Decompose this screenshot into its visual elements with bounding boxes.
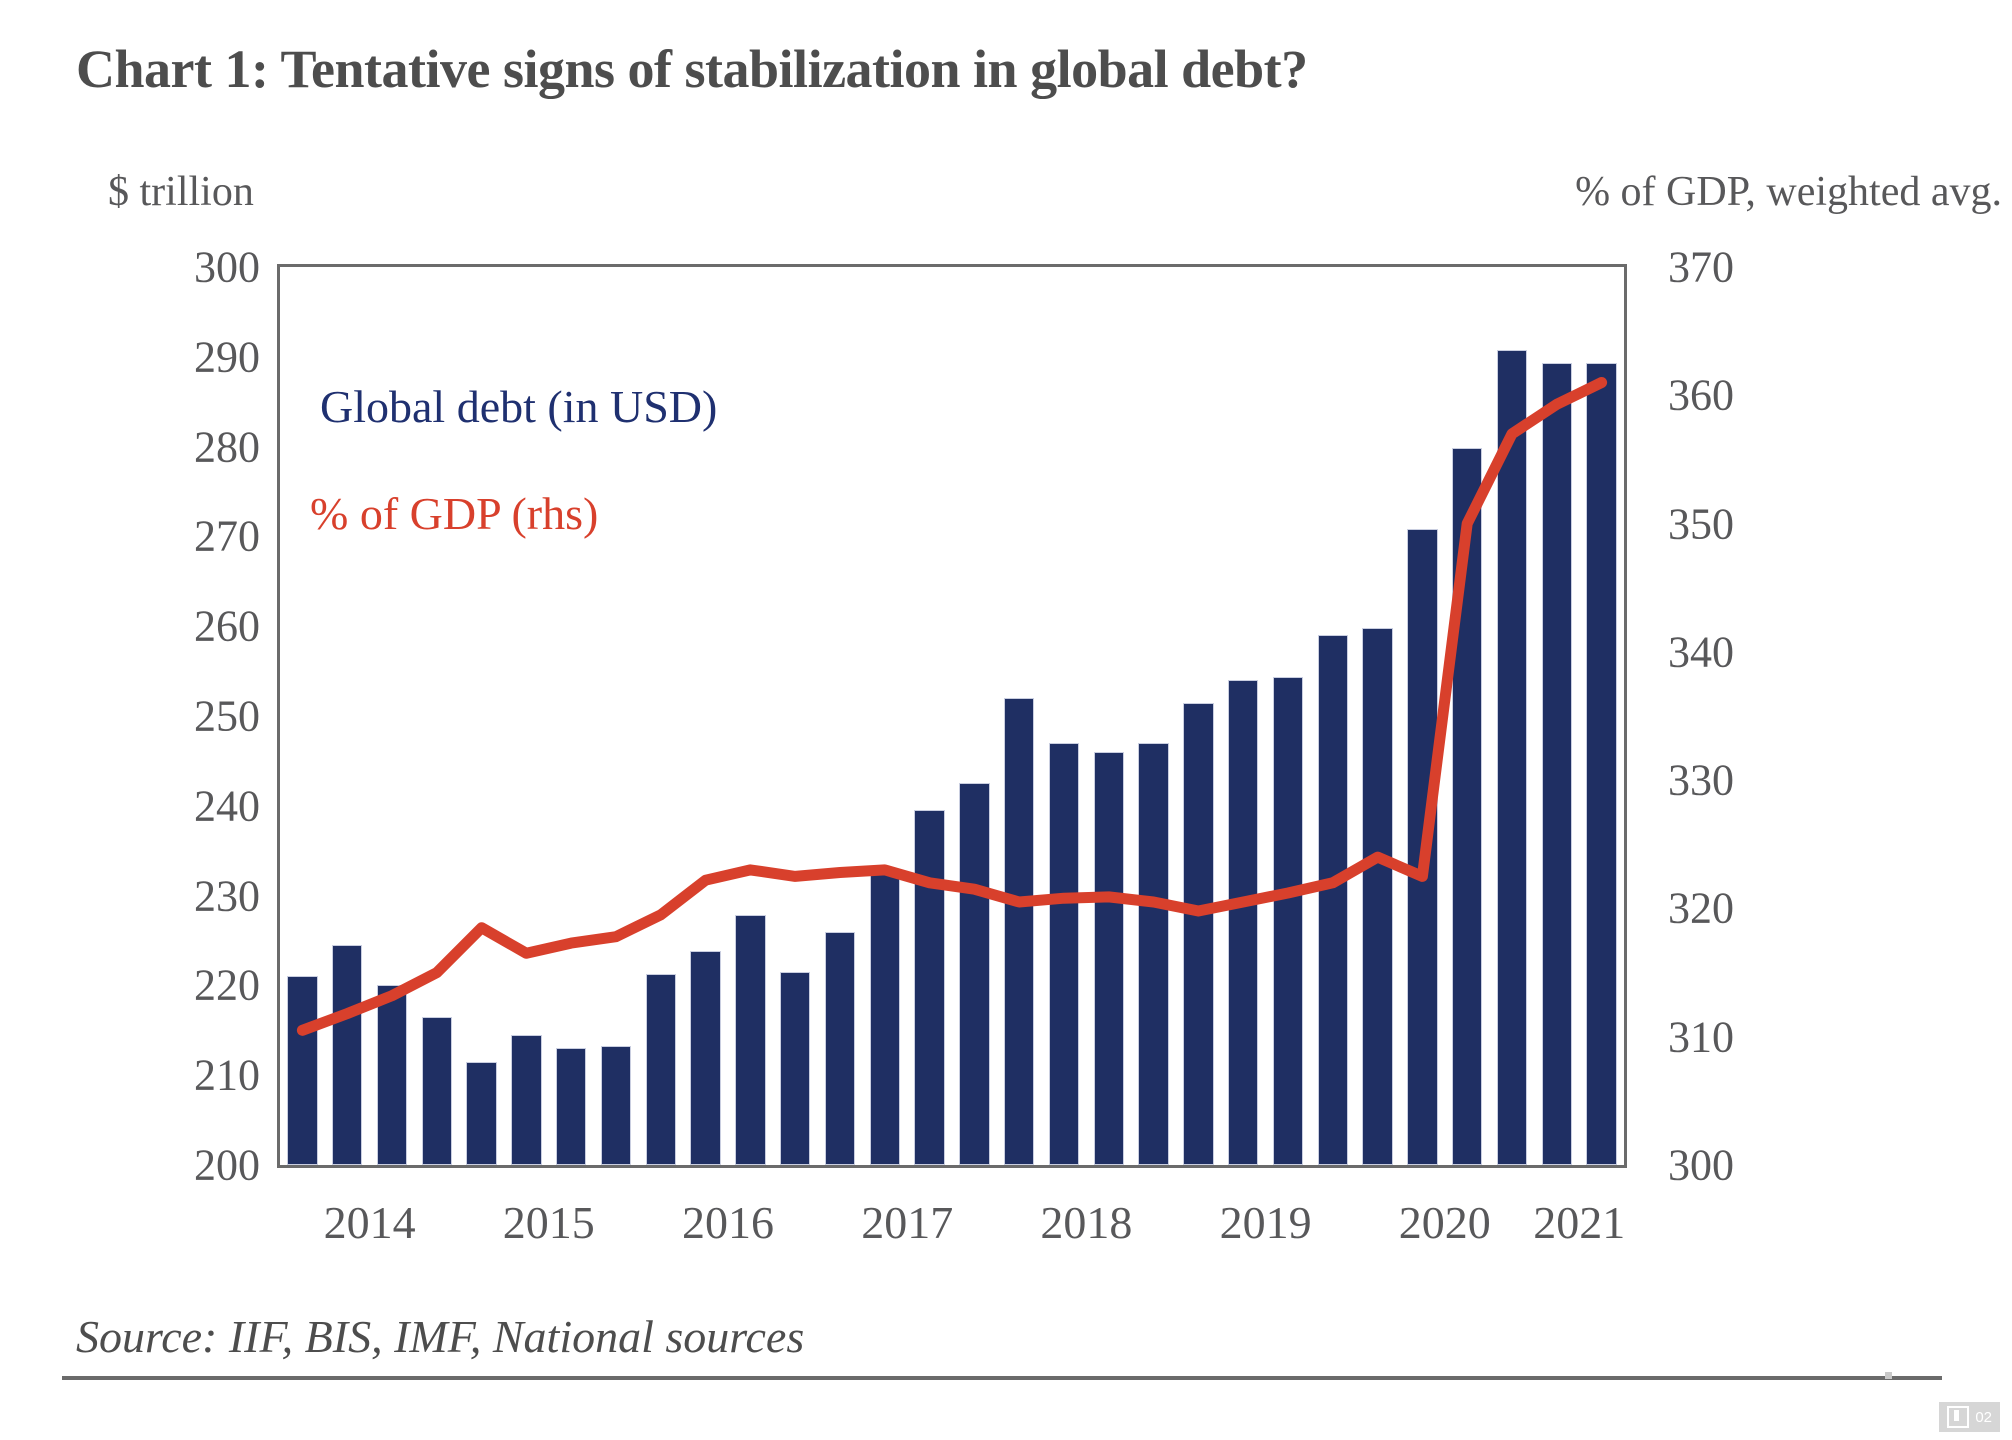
ytick-left-260: 260 (194, 601, 260, 652)
source-note: Source: IIF, BIS, IMF, National sources (76, 1310, 804, 1363)
ytick-right-360: 360 (1668, 370, 1734, 421)
xtick-2019: 2019 (1220, 1196, 1312, 1249)
chart-page: Chart 1: Tentative signs of stabilizatio… (0, 0, 2012, 1440)
ytick-right-350: 350 (1668, 498, 1734, 549)
watermark-label: 02 (1975, 1409, 1992, 1426)
ytick-right-330: 330 (1668, 755, 1734, 806)
xtick-2018: 2018 (1040, 1196, 1132, 1249)
legend-item-global-debt: Global debt (in USD) (320, 380, 717, 433)
ytick-left-300: 300 (194, 242, 260, 293)
ytick-right-340: 340 (1668, 626, 1734, 677)
ytick-left-270: 270 (194, 511, 260, 562)
right-axis-caption: % of GDP, weighted avg. (1575, 168, 2002, 216)
ytick-left-250: 250 (194, 691, 260, 742)
corner-dot (1885, 1372, 1892, 1379)
ytick-left-290: 290 (194, 331, 260, 382)
watermark-icon (1947, 1406, 1969, 1428)
xtick-2015: 2015 (503, 1196, 595, 1249)
watermark-badge: 02 (1939, 1402, 2000, 1432)
ytick-right-320: 320 (1668, 883, 1734, 934)
ytick-left-280: 280 (194, 421, 260, 472)
legend-item-pct-gdp: % of GDP (rhs) (310, 487, 598, 540)
xtick-2021: 2021 (1533, 1196, 1625, 1249)
ytick-right-300: 300 (1668, 1140, 1734, 1191)
page-title: Chart 1: Tentative signs of stabilizatio… (76, 38, 1308, 100)
ytick-left-210: 210 (194, 1050, 260, 1101)
xtick-2016: 2016 (682, 1196, 774, 1249)
footer-divider (62, 1376, 1942, 1380)
left-axis-caption: $ trillion (108, 168, 254, 216)
xtick-2017: 2017 (861, 1196, 953, 1249)
ytick-left-230: 230 (194, 870, 260, 921)
ytick-right-370: 370 (1668, 242, 1734, 293)
ytick-left-220: 220 (194, 960, 260, 1011)
ytick-left-240: 240 (194, 780, 260, 831)
xtick-2014: 2014 (324, 1196, 416, 1249)
xtick-2020: 2020 (1399, 1196, 1491, 1249)
ytick-right-310: 310 (1668, 1011, 1734, 1062)
ytick-left-200: 200 (194, 1140, 260, 1191)
